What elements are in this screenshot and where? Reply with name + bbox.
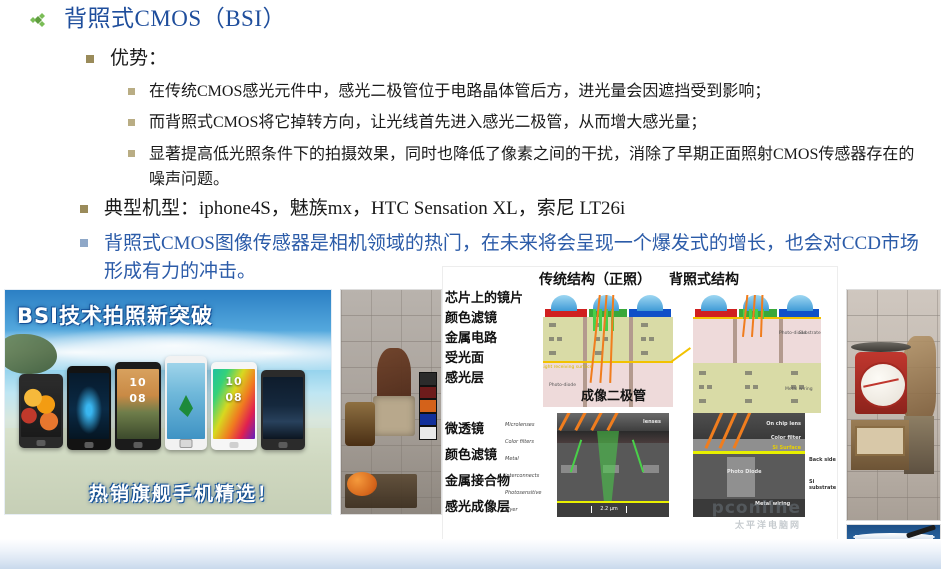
color-checker-strip (419, 372, 437, 440)
bsi-metal-pad (745, 371, 752, 375)
phone-screen (69, 373, 109, 439)
fsi-metal-pad (641, 337, 646, 341)
diagram-link-wire (670, 347, 691, 363)
diagram-title-back: 背照式结构 (669, 269, 739, 289)
fsi-metal-pad (641, 351, 648, 355)
phone-lg (19, 374, 63, 448)
bsi-lens-1 (701, 295, 727, 311)
advantage-item-3: 显著提高低光照条件下的拍摄效果，同时也降低了像素之间的干扰，消除了早期正面照射C… (128, 142, 918, 192)
home-button (180, 439, 193, 448)
watermark-sub: 太平洋电脑网 (712, 518, 801, 531)
sem-lens-tag: lenses (643, 419, 661, 425)
home-button (37, 440, 46, 446)
phone-android (261, 370, 305, 450)
bird-graphic (179, 395, 193, 417)
fsi-sem-image: lenses 2.2 μm (557, 413, 669, 517)
fsi-metal-pad (649, 337, 654, 341)
eng-si-substrate: Si substrate (809, 479, 837, 491)
fsi-metal-pad (557, 337, 562, 341)
footer-band (0, 539, 941, 569)
advantage-item-2: 而背照式CMOS将它掉转方向，让光线首先进入感光二极管，从而增大感光量； (128, 111, 706, 135)
label-on-chip-lens: 芯片上的镜片 (445, 289, 539, 309)
bsi-via (779, 317, 783, 363)
diagram-titles: 传统结构（正照） 背照式结构 (539, 269, 835, 289)
imaging-diode-caption: 成像二极管 (581, 385, 646, 404)
slide-title: 背照式CMOS（BSI） (30, 6, 286, 32)
advantage-item-1-text: 在传统CMOS感光元件中，感光二极管位于电路晶体管后方，进光量会因遮挡受到影响； (149, 80, 770, 104)
sem-scale-bar: 2.2 μm (591, 506, 627, 513)
bsi-metal-pad (745, 385, 750, 389)
fsi-lens-1 (551, 295, 577, 311)
eng-metal-wiring-right: Metal wiring (785, 387, 813, 392)
bsi-metal-pad (699, 385, 704, 389)
bsi-structure-diagram: 传统结构（正照） 背照式结构 芯片上的镜片 颜色滤镜 金属电路 受光面 感光层 (442, 266, 838, 546)
green-ray (599, 309, 602, 331)
square-bullet-icon (128, 88, 135, 95)
watermark-brand: pconline (712, 498, 801, 518)
framed-picture (855, 426, 905, 456)
square-bullet-icon (128, 119, 135, 126)
phone-htc-white: 10 08 (211, 362, 257, 450)
home-button (85, 442, 94, 448)
models-line: 典型机型：iphone4S，魅族mx，HTC Sensation XL，索尼 L… (80, 196, 625, 221)
bsi-metal-pad (707, 385, 712, 389)
eng-metal-interconnects: Metal interconnects (505, 451, 553, 485)
fsi-light-receiving-surface (543, 361, 673, 363)
bsi-metal-pad (753, 385, 758, 389)
diamond-bullet-icon (30, 6, 52, 32)
photodiode-region (727, 457, 755, 497)
fsi-metal-pad (549, 337, 554, 341)
models-line-text: 典型机型：iphone4S，魅族mx，HTC Sensation XL，索尼 L… (104, 196, 625, 221)
advantages-heading: 优势： (86, 46, 167, 71)
home-button (134, 442, 143, 448)
sem-left-eng-labels: Microlenses Color filters Metal intercon… (505, 417, 553, 519)
eng-photosensitive-layer: Photosensitive layer (505, 485, 553, 519)
home-button (279, 442, 288, 448)
phone-sony (67, 366, 111, 450)
eng-back-side: Back side (809, 457, 836, 463)
phone-iphone4s (165, 356, 207, 450)
eng-si-surface: Si Surface (772, 445, 801, 451)
bsi-substrate (693, 317, 821, 363)
diagram-title-front: 传统结构（正照） (539, 269, 651, 289)
slide-canvas: 背照式CMOS（BSI） 优势： 在传统CMOS感光元件中，感光二极管位于电路晶… (0, 0, 941, 569)
label-color-filter: 颜色滤镜 (445, 309, 539, 329)
green-ray (755, 309, 758, 319)
sem-yellow-line (693, 451, 805, 454)
advantage-item-2-text: 而背照式CMOS将它掉转方向，让光线首先进入感光二极管，从而增大感光量； (149, 111, 706, 135)
advantage-item-3-text: 显著提高低光照条件下的拍摄效果，同时也降低了像素之间的干扰，消除了早期正面照射C… (149, 142, 918, 192)
fsi-metal-pad (549, 323, 556, 327)
eng-light-surface: Light receiving surface (543, 365, 592, 370)
eng-color-filters: Color filters (505, 434, 553, 451)
bsi-via (733, 317, 737, 363)
sem-yellow-line (557, 501, 669, 503)
phone-clock-readout: 10 08 (120, 375, 156, 391)
fsi-metal-pad (549, 351, 556, 355)
bsi-metal-pad (699, 399, 706, 403)
bsi-metal-pad (699, 371, 706, 375)
bsi-sensor-cross-section: Photo-diode Substrate Metal wiring (693, 295, 821, 413)
advantages-heading-text: 优势： (110, 46, 167, 71)
phone-htc-one: 10 08 (115, 362, 161, 450)
fsi-lens-3 (637, 295, 663, 311)
scale-pan (851, 342, 911, 352)
bsi-lens-3 (787, 295, 813, 311)
phone-lineup: 10 08 10 08 (11, 348, 325, 448)
eng-microlenses: Microlenses (505, 417, 553, 434)
kitchen-scale-photo (846, 289, 941, 521)
phone-screen (167, 363, 205, 439)
square-bullet-icon (86, 55, 94, 63)
lowlight-sample-photo (340, 289, 442, 515)
banner-headline: BSI技术拍照新突破 (17, 300, 213, 330)
eng-on-chip-lens-b: On chip lens (766, 421, 801, 427)
bsi-metal-pad (791, 399, 798, 403)
phone-screen: 10 08 (117, 369, 159, 439)
slide-title-text: 背照式CMOS（BSI） (64, 6, 286, 32)
image-strip: BSI技术拍照新突破 10 08 (0, 288, 941, 548)
phone-screen: 10 08 (213, 369, 255, 439)
square-bullet-icon (128, 150, 135, 157)
slide-text-area: 背照式CMOS（BSI） 优势： 在传统CMOS感光元件中，感光二极管位于电路晶… (0, 0, 941, 292)
eng-photo-diode-b: Photo Diode (727, 469, 762, 475)
fsi-metal-pad (641, 323, 648, 327)
pumpkin (347, 472, 377, 496)
phone-screen (263, 377, 303, 439)
diagram-top-labels: 芯片上的镜片 颜色滤镜 金属电路 受光面 感光层 (445, 289, 539, 389)
bsi-metal-pad (745, 399, 752, 403)
label-light-surface: 受光面 (445, 349, 539, 369)
bsi-metal-pad (791, 371, 798, 375)
ceramic-crock (373, 396, 415, 436)
pconline-watermark: pconline 太平洋电脑网 (712, 498, 801, 531)
eng-color-filter-b: Color filter (771, 435, 801, 441)
phone-screen (21, 381, 61, 437)
phone-clock-readout: 10 08 (216, 374, 252, 390)
square-bullet-icon (80, 239, 88, 247)
eng-photo-diode: Photo-diode (549, 383, 576, 388)
advantage-item-1: 在传统CMOS感光元件中，感光二极管位于电路晶体管后方，进光量会因遮挡受到影响； (128, 80, 770, 104)
glass-jars (345, 402, 375, 446)
label-metal-circuit: 金属电路 (445, 329, 539, 349)
home-button (230, 442, 239, 448)
bsi-promo-banner: BSI技术拍照新突破 10 08 (4, 289, 332, 515)
label-photosensitive: 感光层 (445, 369, 539, 389)
eng-substrate-right: Substrate (799, 331, 821, 336)
square-bullet-icon (80, 205, 88, 213)
sem-metal-pad (643, 465, 659, 473)
banner-footline: 热销旗舰手机精选！ (89, 479, 278, 506)
